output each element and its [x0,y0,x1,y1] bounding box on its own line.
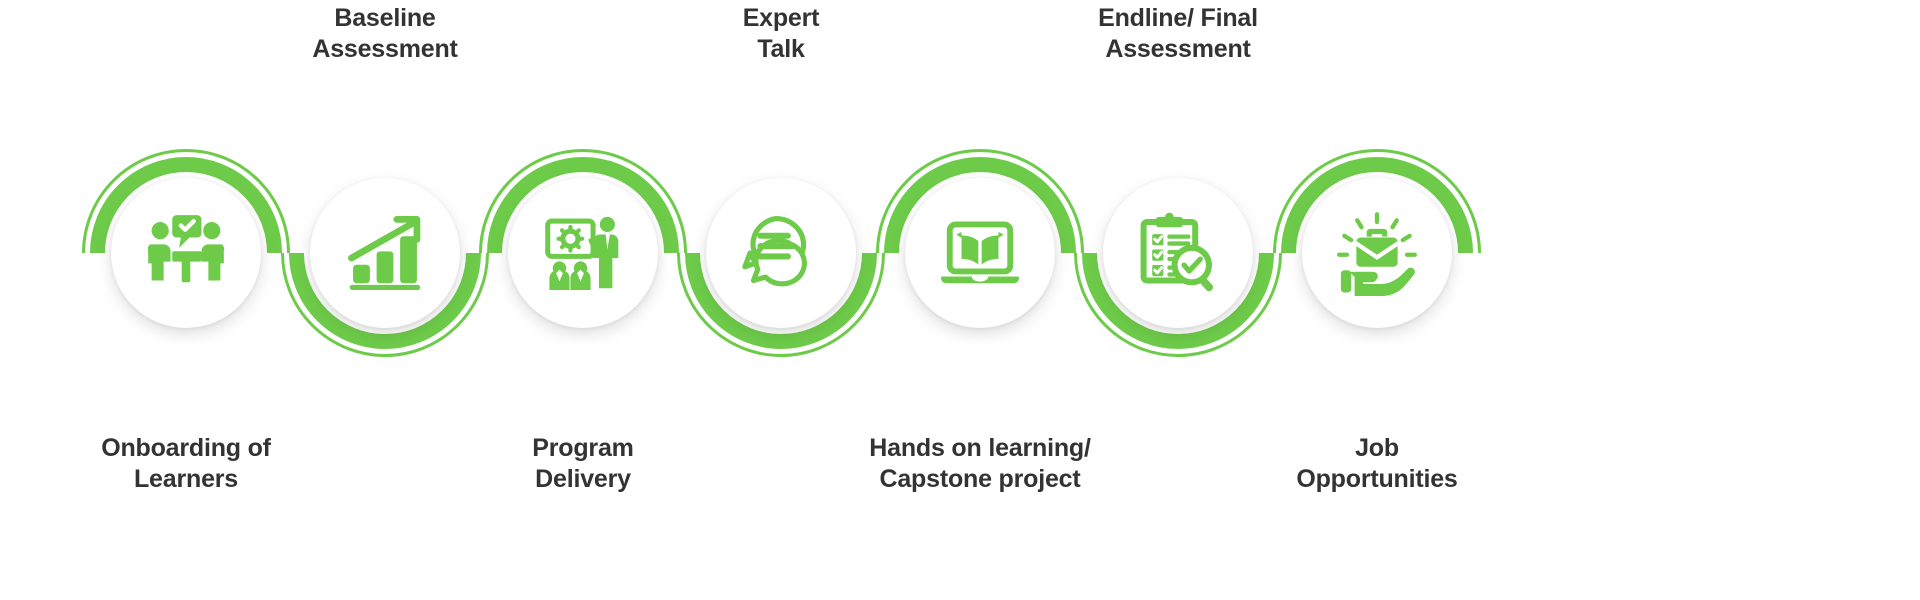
step-connector-2 [373,95,397,160]
connector-ring [771,95,791,115]
connector-dot [183,374,190,381]
connector-dot [1175,136,1182,143]
connector-dot [382,136,389,143]
growth-bar-chart-icon [310,178,460,328]
connector-dot [1374,360,1381,367]
step-label-1: Onboarding of Learners [16,433,356,494]
clipboard-checklist-magnifier-icon [1103,178,1253,328]
presentation-training-icon [508,178,658,328]
connector-dot [382,122,389,129]
connector-dot [778,150,785,157]
hand-briefcase-icon [1302,178,1452,328]
connector-ring [1168,95,1188,115]
step-connector-3 [571,346,595,408]
connector-ring [1367,388,1387,408]
connector-ring [176,388,196,408]
connector-dot [977,346,984,353]
connector-dot [977,374,984,381]
connector-dot [580,374,587,381]
connector-dot [183,360,190,367]
connector-ring [573,388,593,408]
step-label-7: Job Opportunities [1207,433,1547,494]
connector-dot [580,360,587,367]
step-label-3: Program Delivery [413,433,753,494]
group-onboarding-icon [111,178,261,328]
connector-dot [778,136,785,143]
step-connector-5 [968,346,992,408]
connector-dot [1374,374,1381,381]
connector-dot [382,150,389,157]
step-label-5: Hands on learning/ Capstone project [810,433,1150,494]
laptop-book-icon [905,178,1055,328]
connector-ring [970,388,990,408]
connector-dot [977,360,984,367]
step-connector-6 [1166,95,1190,160]
connector-dot [1175,122,1182,129]
chat-bubbles-icon [706,178,856,328]
connector-dot [1175,150,1182,157]
connector-dot [183,346,190,353]
step-label-6: Endline/ Final Assessment [1008,3,1348,64]
step-connector-7 [1365,346,1389,408]
step-connector-4 [769,95,793,160]
step-label-2: Baseline Assessment [215,3,555,64]
process-flow-diagram: Onboarding of Learners Baseline Assessme… [0,0,1920,600]
connector-dot [580,346,587,353]
step-label-4: Expert Talk [611,3,951,64]
connector-ring [375,95,395,115]
step-connector-1 [174,346,198,408]
connector-dot [1374,346,1381,353]
connector-dot [778,122,785,129]
